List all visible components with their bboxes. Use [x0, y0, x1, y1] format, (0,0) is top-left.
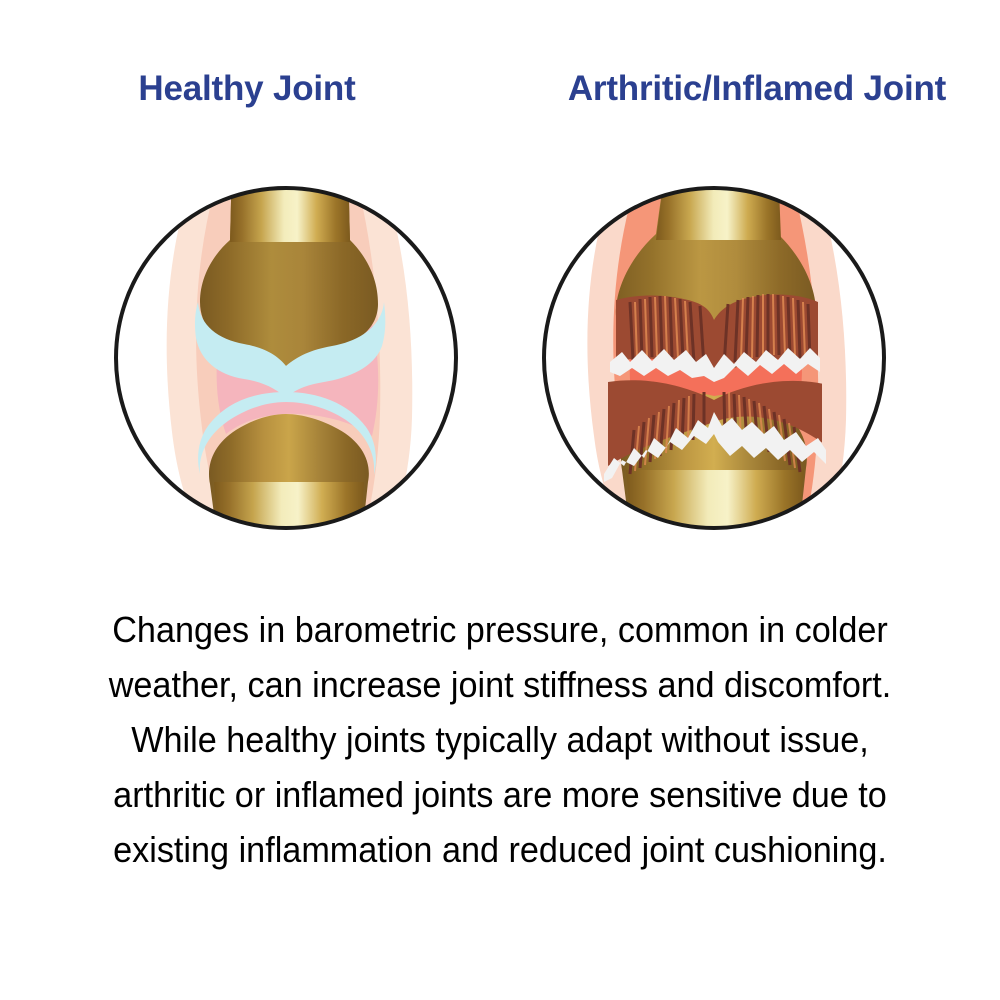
caption-line-4: arthritic or inflamed joints are more se… — [63, 767, 937, 822]
caption-line-5: existing inflammation and reduced joint … — [63, 822, 937, 877]
caption-line-3: While healthy joints typically adapt wit… — [63, 712, 937, 767]
caption-line-2: weather, can increase joint stiffness an… — [63, 657, 937, 712]
caption-line-1: Changes in barometric pressure, common i… — [63, 602, 937, 657]
arthritic-joint-title-cell: Arthritic/Inflamed Joint — [500, 62, 1000, 116]
healthy-joint-title: Healthy Joint — [138, 69, 355, 109]
healthy-joint-contents — [167, 182, 413, 534]
arthritic-lower-bone-shaft — [626, 470, 804, 534]
caption-block: Changes in barometric pressure, common i… — [40, 602, 960, 877]
arthritic-joint-title: Arthritic/Inflamed Joint — [568, 69, 946, 109]
panel-titles-row: Healthy Joint Arthritic/Inflamed Joint — [0, 62, 1000, 116]
healthy-joint-diagram — [110, 182, 462, 534]
arthritic-joint-contents — [587, 182, 846, 534]
healthy-joint-title-cell: Healthy Joint — [0, 62, 500, 116]
arthritic-joint-diagram — [538, 182, 890, 534]
infographic-page: Healthy Joint Arthritic/Inflamed Joint — [0, 0, 1000, 1000]
joint-diagrams-row — [0, 182, 1000, 538]
